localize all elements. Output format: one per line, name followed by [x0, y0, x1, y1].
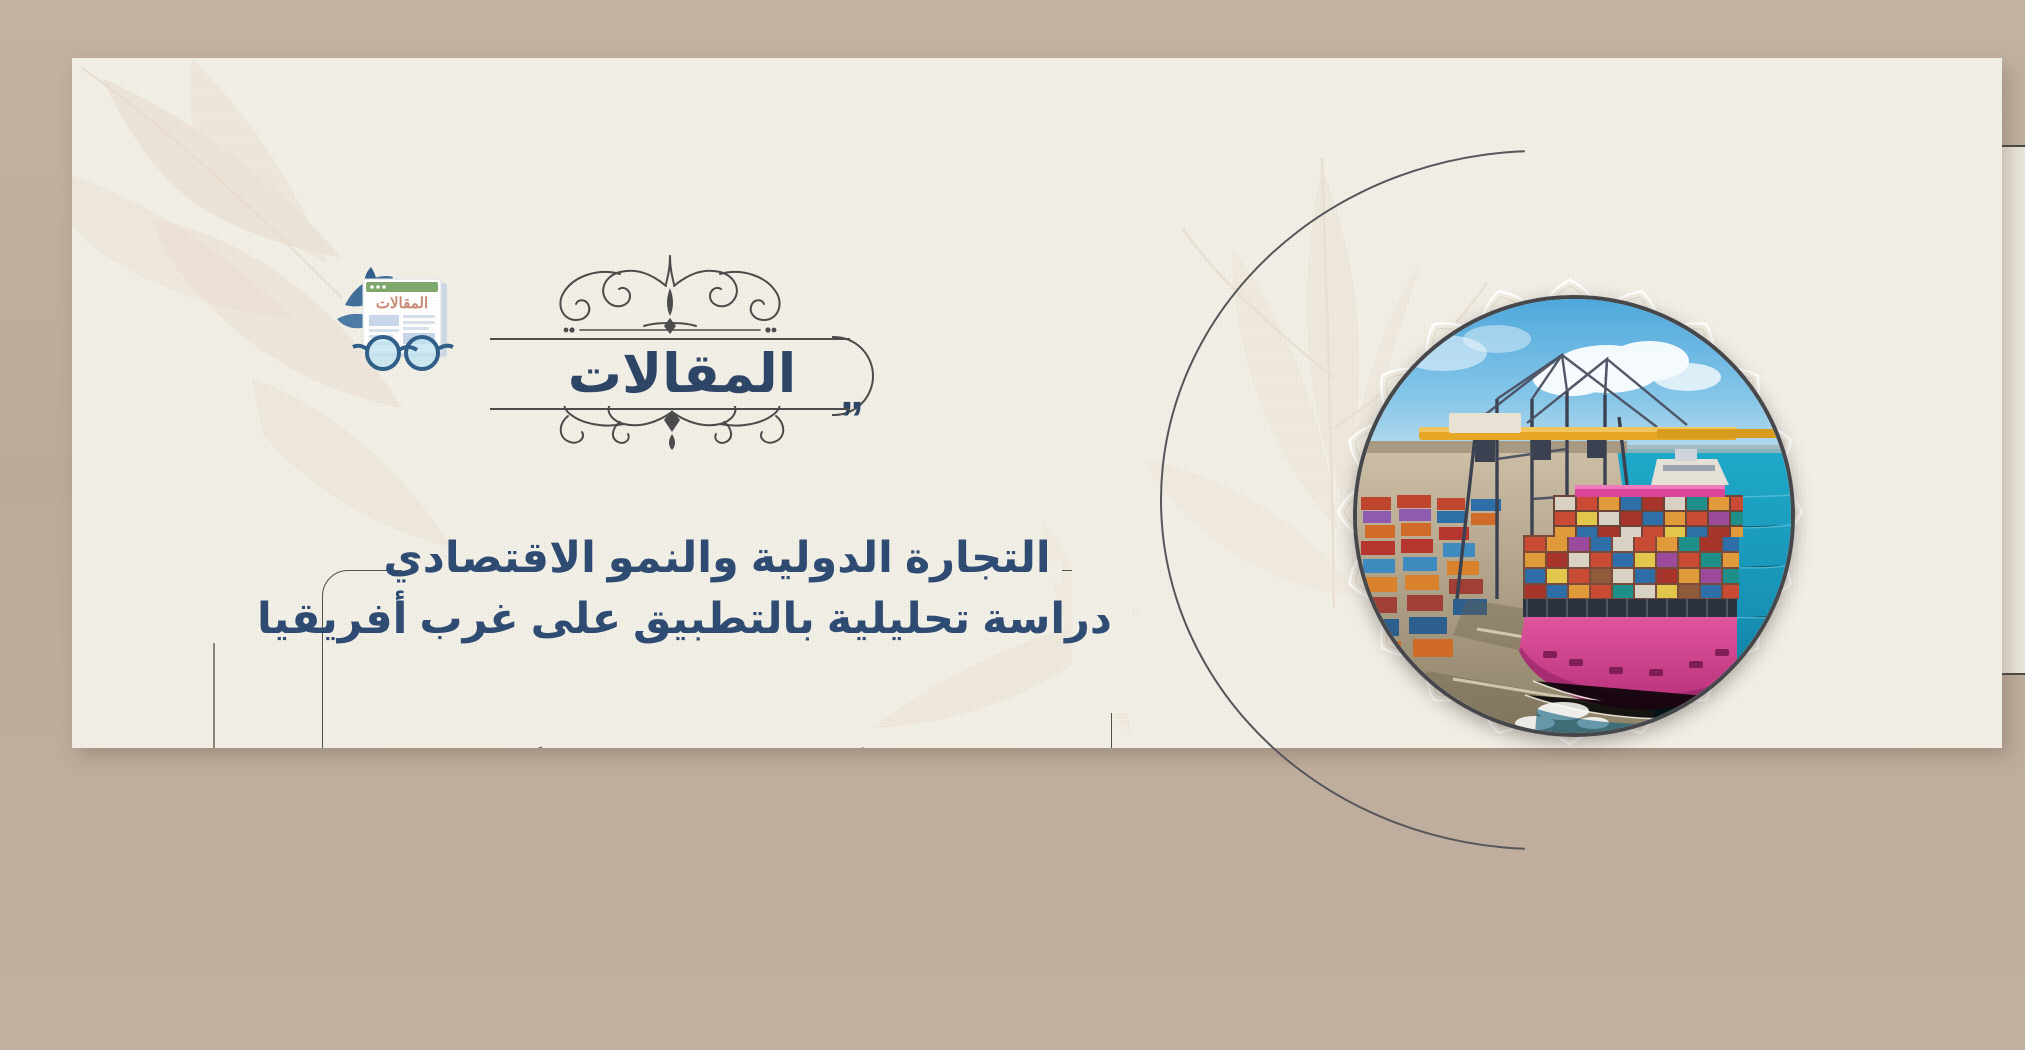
medallion: [1290, 232, 1850, 792]
ship-photo: [1353, 295, 1795, 737]
badge-label: المقالات: [522, 340, 842, 408]
ornamental-flourish-bottom-icon: [532, 406, 812, 468]
frame-vertical-line: [213, 643, 215, 748]
translator-pill-mask: [542, 736, 862, 748]
quote-mark: ”: [840, 396, 864, 444]
ornamental-flourish-top-icon: [520, 242, 820, 338]
title-line-2: دراسة تحليلية بالتطبيق على غرب أفريقيا: [322, 589, 1112, 650]
page-title: التجارة الدولية والنمو الاقتصادي دراسة ت…: [322, 528, 1112, 650]
banner-stage: المقالات: [0, 0, 2025, 1050]
header-badge: المقالات ”: [402, 248, 852, 418]
title-line-1: التجارة الدولية والنمو الاقتصادي: [322, 528, 1112, 589]
